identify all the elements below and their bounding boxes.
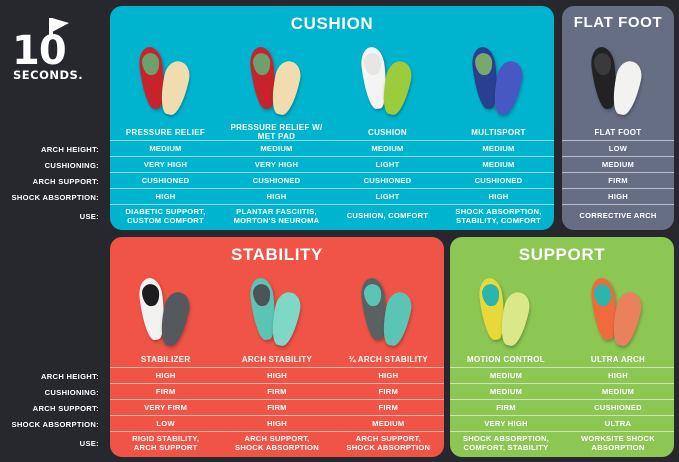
spec-value: MEDIUM: [443, 160, 554, 169]
spec-value: MEDIUM: [562, 160, 674, 169]
product-name: PRESSURE RELIEF W/ MET PAD: [221, 123, 332, 141]
spec-value: FIRM: [110, 387, 221, 396]
table-row: RIGID STABILITY,ARCH SUPPORTARCH SUPPORT…: [110, 431, 444, 453]
spec-value: HIGH: [562, 371, 674, 380]
spec-value: MEDIUM: [332, 144, 443, 153]
product-name: STABILIZER: [110, 355, 221, 364]
insole-image: [356, 275, 420, 349]
insole-image: [134, 44, 198, 118]
table-row: CORRECTIVE ARCH: [562, 204, 674, 226]
product-image-cell: [562, 44, 674, 126]
insole-arch-pad-icon: [141, 283, 161, 307]
spec-value: FIRM: [562, 176, 674, 185]
spec-value: ULTRA: [562, 419, 674, 428]
spec-value: WORKSITE SHOCKABSORPTION: [562, 434, 674, 452]
spec-value: FIRM: [333, 403, 444, 412]
table-row-product-names: PRESSURE RELIEFPRESSURE RELIEF W/ MET PA…: [110, 124, 554, 140]
spec-value: CUSHION, COMFORT: [332, 211, 443, 220]
product-name: CUSHION: [332, 128, 443, 137]
insole-image: [586, 44, 650, 118]
brand-logo: 10 SECONDS.: [12, 18, 98, 86]
panel-flat-foot: FLAT FOOT FLAT FOOTLOWMEDIUMFIRMHIGHCORR…: [562, 6, 674, 230]
row-label: USE:: [0, 205, 104, 227]
spec-value: HIGH: [221, 192, 332, 201]
row-label: ARCH SUPPORT:: [0, 173, 104, 189]
spec-value: SHOCK ABSORPTION,STABILITY, COMFORT: [443, 207, 554, 225]
panel-cushion: CUSHION PRESSURE RELIEFPRESSURE RELIEF W…: [110, 6, 554, 230]
insole-arch-pad-icon: [252, 283, 272, 307]
spec-value: LIGHT: [332, 192, 443, 201]
row-label: SHOCK ABSORPTION:: [0, 189, 104, 205]
row-label: SHOCK ABSORPTION:: [0, 416, 104, 432]
product-name: PRESSURE RELIEF: [110, 128, 221, 137]
spec-value: PLANTAR FASCIITIS,MORTON'S NEUROMA: [221, 207, 332, 225]
product-images-support: [450, 269, 674, 355]
product-name: ¾ ARCH STABILITY: [333, 355, 444, 364]
spec-value: FIRM: [450, 403, 562, 412]
product-image-cell: [221, 275, 332, 355]
table-row: CUSHIONEDCUSHIONEDCUSHIONEDCUSHIONED: [110, 172, 554, 188]
product-image-cell: [443, 44, 554, 126]
spec-table-cushion: PRESSURE RELIEFPRESSURE RELIEF W/ MET PA…: [110, 124, 554, 226]
row-label: ARCH HEIGHT:: [0, 368, 104, 384]
insole-arch-pad-icon: [252, 52, 272, 76]
product-image-cell: [450, 275, 562, 355]
table-row: MEDIUMMEDIUM: [450, 383, 674, 399]
product-name: MULTISPORT: [443, 128, 554, 137]
product-name: ARCH STABILITY: [221, 355, 332, 364]
insole-arch-pad-icon: [363, 283, 383, 307]
product-images-stability: [110, 269, 444, 355]
row-label: CUSHIONING:: [0, 384, 104, 400]
product-image-cell: [333, 275, 444, 355]
table-row: MEDIUMMEDIUMMEDIUMMEDIUM: [110, 140, 554, 156]
spec-value: LIGHT: [332, 160, 443, 169]
row-label: CUSHIONING:: [0, 157, 104, 173]
row-label: USE:: [0, 432, 104, 454]
spec-value: CUSHIONED: [332, 176, 443, 185]
spec-value: MEDIUM: [443, 144, 554, 153]
product-image-cell: [110, 44, 221, 126]
spec-value: CUSHIONED: [221, 176, 332, 185]
panel-title-stability: STABILITY: [110, 237, 444, 269]
insole-image: [356, 44, 420, 118]
panel-title-support: SUPPORT: [450, 237, 674, 269]
spec-value: MEDIUM: [450, 387, 562, 396]
spec-value: CUSHIONED: [110, 176, 221, 185]
product-images-cushion: [110, 38, 554, 126]
table-row-product-names: FLAT FOOT: [562, 124, 674, 140]
panel-support: SUPPORT MOTION CONTROLULTRA ARCHMEDIUMHI…: [450, 237, 674, 457]
table-row: LOW: [562, 140, 674, 156]
spec-value: MEDIUM: [333, 419, 444, 428]
product-image-cell: [221, 44, 332, 126]
spec-value: HIGH: [562, 192, 674, 201]
table-row: HIGHHIGHHIGH: [110, 367, 444, 383]
product-image-cell: [110, 275, 221, 355]
spec-value: FIRM: [221, 403, 332, 412]
panel-title-flat-foot: FLAT FOOT: [562, 6, 674, 38]
spec-value: HIGH: [333, 371, 444, 380]
spec-value: MEDIUM: [110, 144, 221, 153]
spec-value: SHOCK ABSORPTION,COMFORT, STABILITY: [450, 434, 562, 452]
spec-table-support: MOTION CONTROLULTRA ARCHMEDIUMHIGHMEDIUM…: [450, 351, 674, 453]
insole-image: [134, 275, 198, 349]
table-row: FIRMCUSHIONED: [450, 399, 674, 415]
table-row: SHOCK ABSORPTION,COMFORT, STABILITYWORKS…: [450, 431, 674, 453]
product-image-cell: [562, 275, 674, 355]
table-row: HIGHHIGHLIGHTHIGH: [110, 188, 554, 204]
spec-value: ARCH SUPPORT,SHOCK ABSORPTION: [333, 434, 444, 452]
spec-value: LOW: [110, 419, 221, 428]
insole-image: [586, 275, 650, 349]
insole-image: [474, 275, 538, 349]
spec-value: RIGID STABILITY,ARCH SUPPORT: [110, 434, 221, 452]
spec-table-flat-foot: FLAT FOOTLOWMEDIUMFIRMHIGHCORRECTIVE ARC…: [562, 124, 674, 226]
table-row: VERY FIRMFIRMFIRM: [110, 399, 444, 415]
spec-value: VERY HIGH: [110, 160, 221, 169]
spec-value: LOW: [562, 144, 674, 153]
spec-value: FIRM: [333, 387, 444, 396]
spec-value: HIGH: [221, 419, 332, 428]
table-row: VERY HIGHVERY HIGHLIGHTMEDIUM: [110, 156, 554, 172]
brand-word: SECONDS.: [13, 69, 83, 81]
spec-value: VERY FIRM: [110, 403, 221, 412]
product-images-flat-foot: [562, 38, 674, 126]
insole-arch-pad-icon: [474, 52, 494, 76]
spec-value: DIABETIC SUPPORT,CUSTOM COMFORT: [110, 207, 221, 225]
table-row-product-names: MOTION CONTROLULTRA ARCH: [450, 351, 674, 367]
table-row-product-names: STABILIZERARCH STABILITY¾ ARCH STABILITY: [110, 351, 444, 367]
row-labels-bottom: ARCH HEIGHT:CUSHIONING:ARCH SUPPORT:SHOC…: [0, 368, 104, 454]
table-row: MEDIUMHIGH: [450, 367, 674, 383]
spec-value: HIGH: [110, 192, 221, 201]
insole-arch-pad-icon: [141, 52, 161, 76]
spec-value: CORRECTIVE ARCH: [562, 211, 674, 220]
spec-value: FIRM: [221, 387, 332, 396]
spec-value: CUSHIONED: [443, 176, 554, 185]
table-row: MEDIUM: [562, 156, 674, 172]
table-row: HIGH: [562, 188, 674, 204]
insole-arch-pad-icon: [593, 283, 613, 307]
brand-number: 10: [12, 31, 66, 71]
panel-stability: STABILITY STABILIZERARCH STABILITY¾ ARCH…: [110, 237, 444, 457]
spec-value: VERY HIGH: [221, 160, 332, 169]
spec-value: VERY HIGH: [450, 419, 562, 428]
insole-arch-pad-icon: [593, 52, 613, 76]
spec-table-stability: STABILIZERARCH STABILITY¾ ARCH STABILITY…: [110, 351, 444, 453]
spec-value: MEDIUM: [450, 371, 562, 380]
product-name: FLAT FOOT: [562, 128, 674, 137]
spec-value: HIGH: [443, 192, 554, 201]
row-labels-top: ARCH HEIGHT:CUSHIONING:ARCH SUPPORT:SHOC…: [0, 141, 104, 227]
comparison-chart: 10 SECONDS. ARCH HEIGHT:CUSHIONING:ARCH …: [0, 0, 679, 462]
row-label: ARCH SUPPORT:: [0, 400, 104, 416]
table-row: LOWHIGHMEDIUM: [110, 415, 444, 431]
product-name: MOTION CONTROL: [450, 355, 562, 364]
spec-value: HIGH: [221, 371, 332, 380]
spec-value: HIGH: [110, 371, 221, 380]
insole-arch-pad-icon: [481, 283, 501, 307]
insole-image: [467, 44, 531, 118]
insole-arch-pad-icon: [363, 52, 383, 76]
table-row: VERY HIGHULTRA: [450, 415, 674, 431]
product-image-cell: [332, 44, 443, 126]
table-row: FIRMFIRMFIRM: [110, 383, 444, 399]
spec-value: ARCH SUPPORT,SHOCK ABSORPTION: [221, 434, 332, 452]
spec-value: MEDIUM: [562, 387, 674, 396]
panel-title-cushion: CUSHION: [110, 6, 554, 38]
table-row: FIRM: [562, 172, 674, 188]
spec-value: MEDIUM: [221, 144, 332, 153]
product-name: ULTRA ARCH: [562, 355, 674, 364]
spec-value: CUSHIONED: [562, 403, 674, 412]
insole-image: [245, 275, 309, 349]
table-row: DIABETIC SUPPORT,CUSTOM COMFORTPLANTAR F…: [110, 204, 554, 226]
row-label: ARCH HEIGHT:: [0, 141, 104, 157]
insole-image: [245, 44, 309, 118]
